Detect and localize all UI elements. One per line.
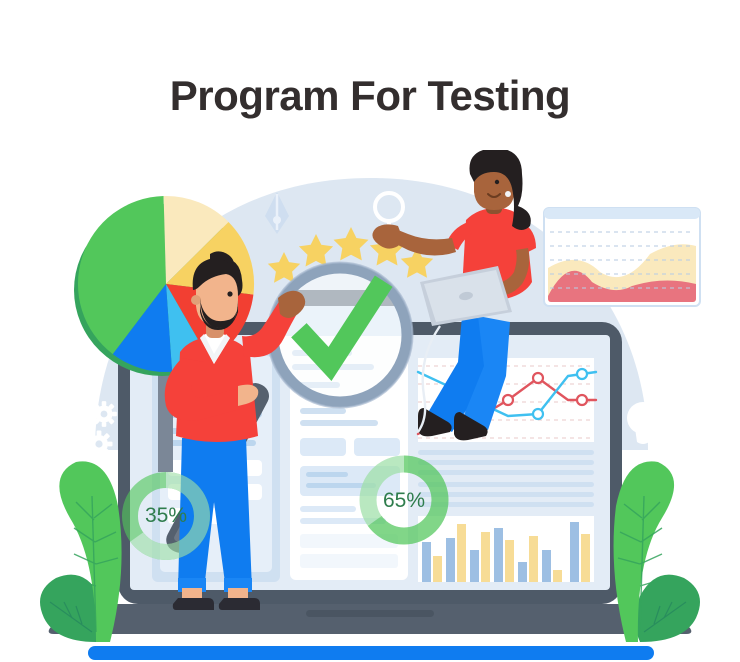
screen-bar-chart (418, 516, 594, 582)
progress-donut-35-label: 35% (145, 504, 187, 527)
page-title: Program For Testing (0, 72, 740, 120)
background-window-panel (544, 208, 700, 306)
plant-right (614, 461, 700, 642)
illustration-canvas: 35% 65% (0, 150, 740, 662)
plant-left (40, 461, 122, 642)
background-area-chart (548, 220, 696, 302)
illustration-page: Program For Testing (0, 0, 740, 662)
progress-donut-65-label: 65% (383, 489, 425, 512)
magnifier-with-checkmark (268, 263, 413, 408)
ground-bar (88, 646, 654, 660)
